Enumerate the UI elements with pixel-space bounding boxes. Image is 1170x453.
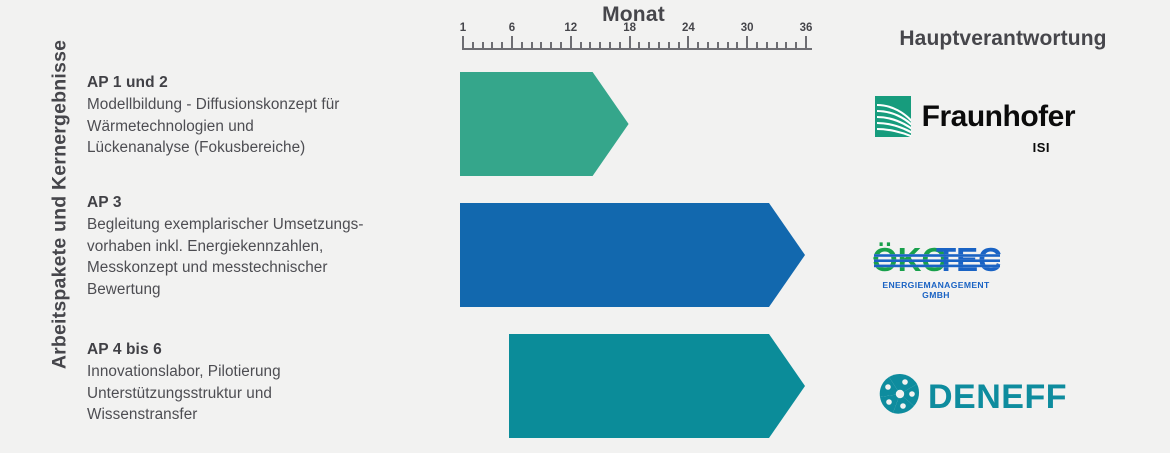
axis-tick-label: 1 [460,22,466,34]
description-line: Innovationslabor, Pilotierung [87,361,437,383]
deneff-flower-icon [876,370,924,423]
axis-tick-minor [785,42,787,48]
axis-tick-minor [491,42,493,48]
logo-okotec: ÖKO TEC ENERGIEMANAGEMENT GMBH [872,238,1012,292]
axis-tick-minor [540,42,542,48]
axis-tick-minor [472,42,474,48]
fraunhofer-institute-suffix: ISI [875,140,1050,155]
work-package-title: AP 3 [87,192,437,213]
axis-tick-minor [550,42,552,48]
work-package-description: Innovationslabor, Pilotierung Unterstütz… [87,361,437,426]
axis-tick-major [570,36,572,48]
description-line: Modellbildung - Diffusionskonzept für [87,94,437,116]
logo-fraunhofer-isi: Fraunhofer ISI [875,96,1075,162]
responsibility-title: Hauptverantwortung [858,27,1148,51]
axis-tick-minor [599,42,601,48]
description-line: Messkonzept und messtechnischer [87,257,437,279]
work-package-title: AP 4 bis 6 [87,339,437,360]
axis-tick-minor [727,42,729,48]
axis-tick-minor [776,42,778,48]
axis-tick-major [687,36,689,48]
axis-tick-major [511,36,513,48]
axis-tick-minor [648,42,650,48]
deneff-wordmark: DENEFF [928,380,1067,414]
axis-tick-minor [795,42,797,48]
axis-tick-minor [638,42,640,48]
axis-tick-minor [697,42,699,48]
gantt-bar-ap-3[interactable] [460,203,805,307]
axis-tick-minor [707,42,709,48]
axis-tick-minor [521,42,523,48]
work-package-text-ap-4-bis-6: AP 4 bis 6 Innovationslabor, Pilotierung… [87,339,437,426]
axis-tick-minor [668,42,670,48]
fraunhofer-mark-icon [875,96,911,137]
axis-tick-minor [766,42,768,48]
work-package-description: Begleitung exemplarischer Umsetzungs- vo… [87,214,437,300]
logo-deneff: DENEFF [876,370,1051,428]
axis-tick-label: 36 [800,22,813,34]
vertical-axis-label: Arbeitspakete und Kernergebnisse [49,0,72,415]
fraunhofer-wordmark: Fraunhofer [922,102,1075,132]
okotec-wordmark: ÖKO TEC [872,238,1012,276]
axis-line [462,48,812,51]
gantt-chart-canvas: Arbeitspakete und Kernergebnisse AP 1 un… [0,0,1170,453]
axis-tick-label: 6 [509,22,515,34]
axis-tick-minor [609,42,611,48]
axis-tick-minor [756,42,758,48]
description-line: vorhaben inkl. Energiekennzahlen, [87,236,437,258]
axis-tick-minor [678,42,680,48]
axis-tick-minor [736,42,738,48]
timeline-axis: 161218243036 [462,30,812,54]
work-package-title: AP 1 und 2 [87,72,437,93]
description-line: Begleitung exemplarischer Umsetzungs- [87,214,437,236]
svg-text:TEC: TEC [936,241,1002,276]
axis-tick-label: 18 [623,22,636,34]
axis-tick-minor [658,42,660,48]
work-package-description: Modellbildung - Diffusionskonzept für Wä… [87,94,437,159]
description-line: Lückenanalyse (Fokusbereiche) [87,137,437,159]
axis-tick-major [805,36,807,48]
axis-tick-minor [619,42,621,48]
axis-tick-major [629,36,631,48]
axis-tick-minor [531,42,533,48]
axis-tick-minor [560,42,562,48]
axis-tick-minor [580,42,582,48]
gantt-bar-ap-4-bis-6[interactable] [509,334,805,438]
axis-tick-label: 12 [564,22,577,34]
description-line: Bewertung [87,279,437,301]
description-line: Unterstützungsstruktur und [87,383,437,405]
gantt-bar-ap-1-und-2[interactable] [460,72,629,176]
axis-tick-minor [589,42,591,48]
work-package-text-ap-1-und-2: AP 1 und 2 Modellbildung - Diffusionskon… [87,72,437,159]
axis-tick-minor [501,42,503,48]
axis-tick-major [462,36,464,48]
axis-tick-label: 24 [682,22,695,34]
work-package-text-ap-3: AP 3 Begleitung exemplarischer Umsetzung… [87,192,437,300]
axis-tick-minor [717,42,719,48]
description-line: Wissenstransfer [87,404,437,426]
description-line: Wärmetechnologien und [87,116,437,138]
axis-tick-major [746,36,748,48]
okotec-subtitle: ENERGIEMANAGEMENT GMBH [872,280,1000,300]
axis-tick-minor [482,42,484,48]
axis-tick-label: 30 [741,22,754,34]
